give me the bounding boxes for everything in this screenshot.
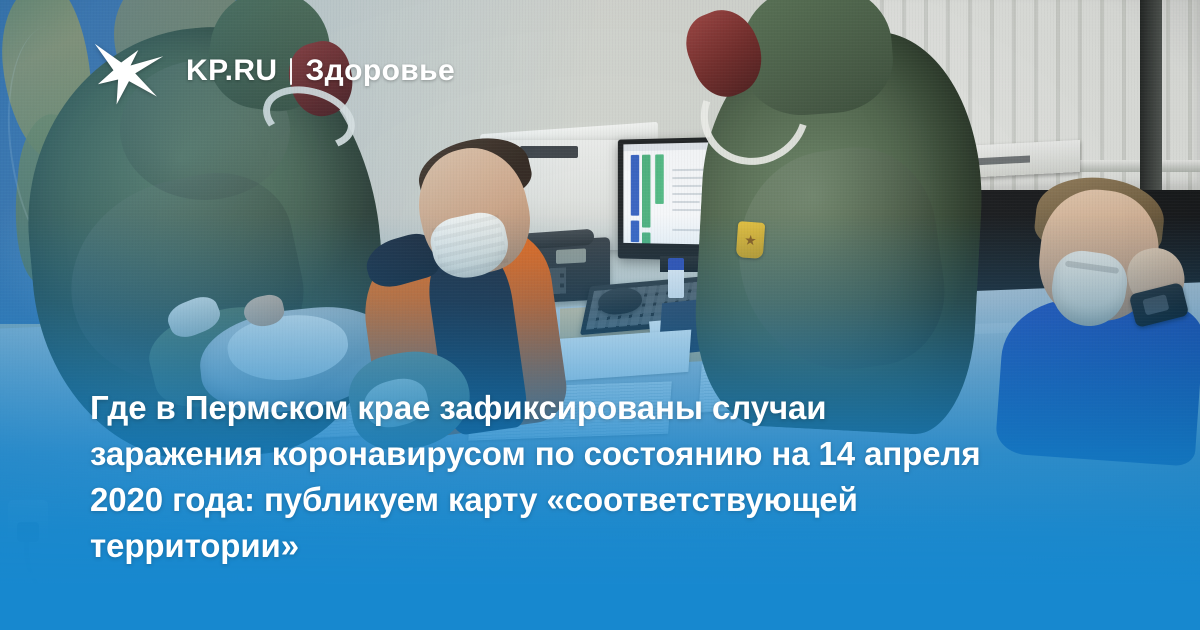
printer-paper-slot [520,146,578,158]
headline-line-2: заражения коронавирусом по состоянию на … [90,431,1110,477]
headline-line-1: Где в Пермском крае зафиксированы случаи [90,385,1110,431]
kp-swallow-logo-icon[interactable] [90,36,168,106]
section-name[interactable]: Здоровье [305,56,455,86]
site-name[interactable]: KP.RU [186,56,277,86]
wall-socket-icon [8,500,48,542]
brand-text: KP.RU Здоровье [186,56,455,86]
spreadsheet-column [655,154,664,204]
spreadsheet-column [642,155,650,228]
window-frame [1140,0,1162,210]
spreadsheet-row [672,169,705,171]
headline-line-3: 2020 года: публикуем карту «соответствую… [90,477,1110,523]
brand-bar[interactable]: KP.RU Здоровье [90,36,455,106]
page-title: Где в Пермском крае зафиксированы случаи… [90,385,1110,569]
brand-separator [290,58,292,85]
spreadsheet-column [642,232,650,245]
social-share-card: KP.RU Здоровье Где в Пермском крае зафик… [0,0,1200,630]
spreadsheet-column [631,155,639,216]
spreadsheet-row [672,185,701,187]
phone-display [556,248,586,264]
sample-bottle [668,258,684,298]
spreadsheet-row [672,201,699,203]
star-shoulder-patch-icon [736,221,765,259]
headline-line-4: территории» [90,523,1110,569]
spreadsheet-column [631,221,639,243]
